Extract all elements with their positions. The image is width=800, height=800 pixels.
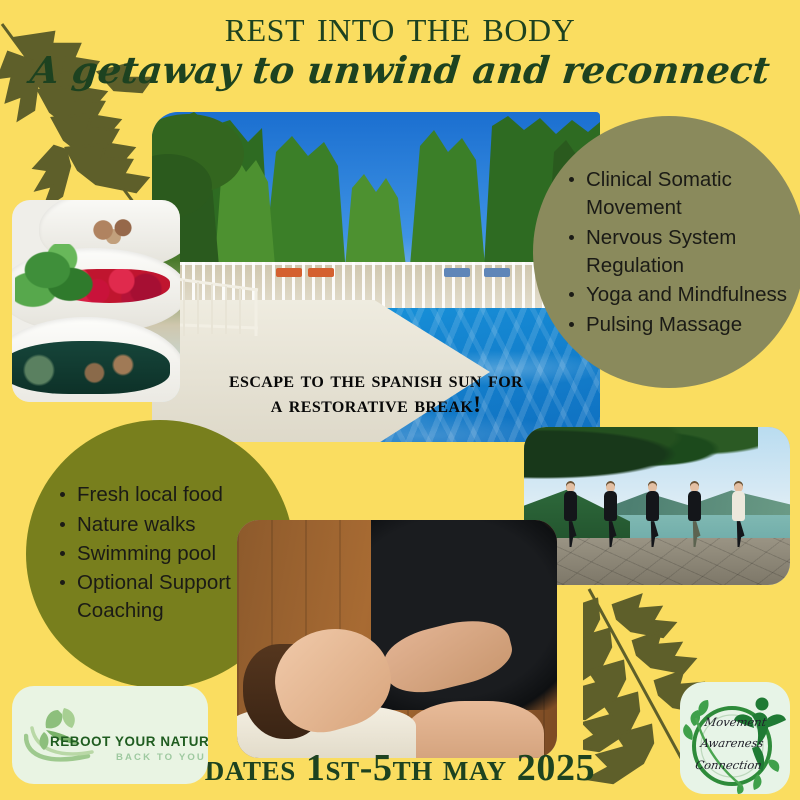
overlay-headline-line-2: a restorative break! <box>152 392 600 418</box>
group-yoga-tree-pose-photo <box>524 427 790 585</box>
yoga-stone-terrace <box>524 538 790 585</box>
yoga-lake <box>524 515 790 553</box>
yoga-tree-canopy <box>524 427 758 481</box>
client-face <box>264 616 402 744</box>
client-hair <box>243 644 326 739</box>
yoga-participant <box>564 483 577 547</box>
logo-name: Movement Awareness Connection <box>689 712 775 776</box>
food-bowl <box>39 200 180 269</box>
list-item: Pulsing Massage <box>569 311 791 339</box>
yoga-participant <box>604 483 617 547</box>
overlay-headline-line-1: Escape to the Spanish sun for <box>152 367 600 393</box>
lounge-chair <box>484 268 510 277</box>
yoga-mountains <box>524 481 790 535</box>
logo-ring-and-figure-icon <box>680 682 790 794</box>
reboot-your-nature-logo: REBOOT YOUR NATURE BACK TO YOU <box>12 686 208 784</box>
green-smoothie-bowl <box>12 341 170 394</box>
logo-name-line-1: Movement <box>696 712 775 733</box>
yoga-sky <box>524 427 790 585</box>
movement-awareness-connection-logo: Movement Awareness Connection <box>680 682 790 794</box>
logo-name-line-2: Awareness <box>692 733 771 754</box>
list-item: Yoga and Mindfulness <box>569 281 791 309</box>
lounge-chair <box>308 268 334 277</box>
pool-treeline <box>152 112 600 302</box>
therapist-silhouette <box>371 520 557 710</box>
logo-name-line-3: Connection <box>689 755 768 776</box>
wood-wall-background <box>237 520 557 758</box>
logo-name: REBOOT YOUR NATURE <box>50 734 208 749</box>
yoga-participant <box>732 483 745 547</box>
list-item: Fresh local food <box>60 481 280 509</box>
offerings-list: Clinical Somatic Movement Nervous System… <box>569 166 791 340</box>
yoga-participant <box>646 483 659 547</box>
lounge-chair <box>276 268 302 277</box>
food-bowl <box>12 248 180 333</box>
therapist-arm <box>379 610 518 701</box>
pool-deck <box>152 262 600 322</box>
pomegranate-seeds <box>49 269 170 303</box>
list-item: Nervous System Regulation <box>569 224 791 281</box>
flyer-canvas: Escape to the Spanish sun for a restorat… <box>0 0 800 800</box>
massage-therapy-photo <box>237 520 557 758</box>
lounge-chair <box>444 268 470 277</box>
page-subtitle: A getaway to unwind and reconnect <box>0 52 800 89</box>
logo-tagline: BACK TO YOU <box>116 752 206 763</box>
yoga-participant <box>688 483 701 547</box>
mint-leaves <box>15 244 96 309</box>
offerings-circle: Clinical Somatic Movement Nervous System… <box>533 116 800 388</box>
pool-fence <box>152 262 600 312</box>
list-item: Clinical Somatic Movement <box>569 166 791 223</box>
page-title: Rest into the body <box>0 3 800 49</box>
nuts-topping <box>86 216 143 244</box>
